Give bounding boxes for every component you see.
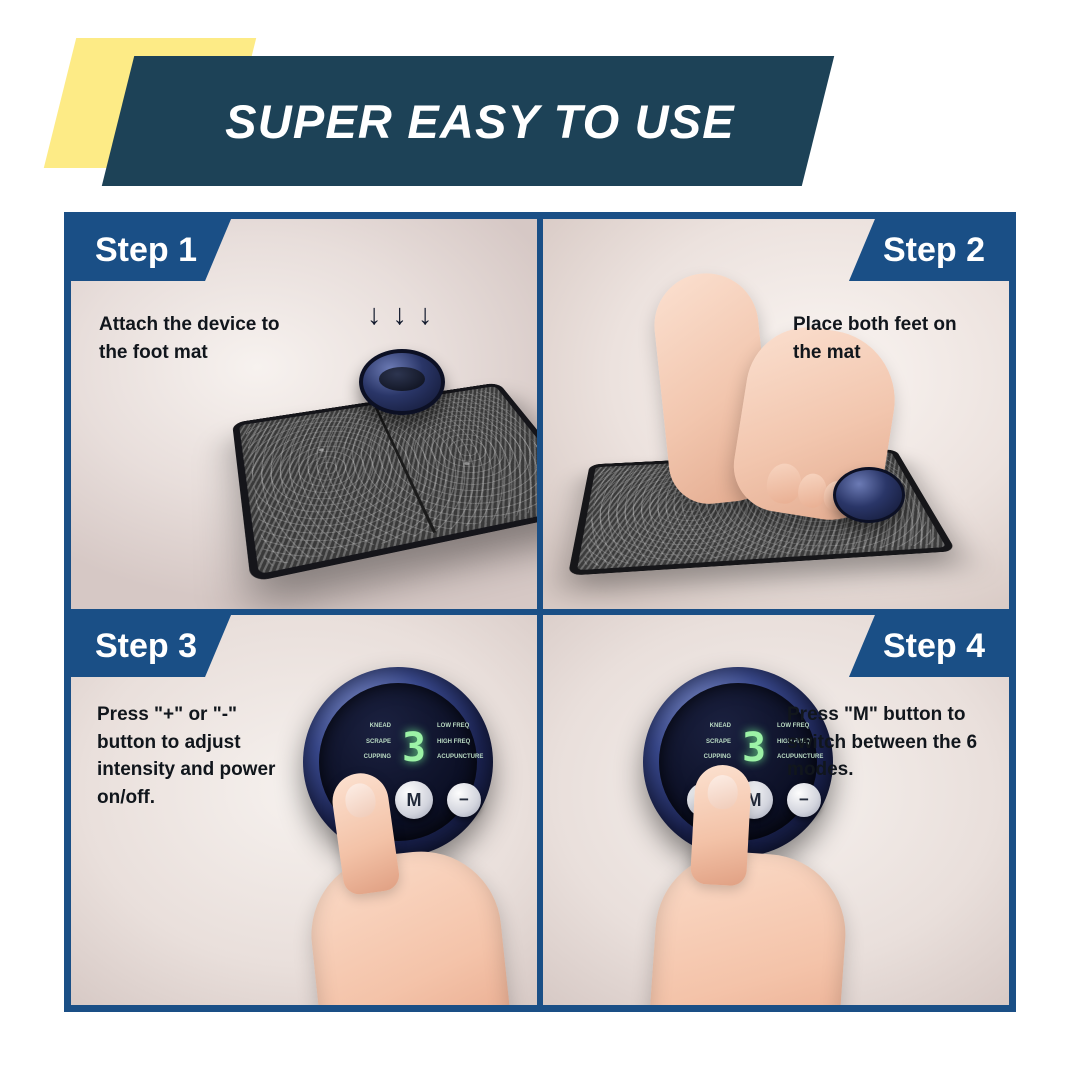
controller-3-screen: KNEAD SCRAPE CUPPING 3 LOW FREQ HIGH FRE… (349, 717, 479, 779)
step-4-caption: Press "M" button to switch between the 6… (787, 701, 987, 784)
mode-button-3[interactable]: M (395, 781, 433, 819)
fingernail (707, 774, 739, 810)
step-3-tab-label: Step 3 (95, 627, 197, 666)
controller-3-screen-labels-left: KNEAD SCRAPE CUPPING (351, 723, 391, 761)
step-1-tab-label: Step 1 (95, 231, 197, 270)
step-1-caption: Attach the device to the foot mat (99, 311, 299, 366)
fingernail (343, 781, 377, 819)
screen-label: KNEAD (351, 723, 391, 730)
step-2-caption: Place both feet on the mat (793, 311, 983, 366)
step-card-3: Step 3 Press "+" or "-" button to adjust… (68, 612, 540, 1008)
screen-label: SCRAPE (351, 739, 391, 746)
screen-label: LOW FREQ (437, 723, 477, 730)
controller-device-puck-2 (833, 467, 905, 523)
step-3-tab: Step 3 (68, 615, 231, 677)
screen-label: CUPPING (351, 754, 391, 761)
down-arrows-icon: ↓↓↓ (367, 301, 433, 330)
controller-device-puck (359, 349, 445, 415)
steps-grid: Step 1 Attach the device to the foot mat… (64, 212, 1016, 1012)
toe (764, 461, 803, 505)
header-banner: SUPER EASY TO USE (0, 38, 1080, 168)
controller-3-screen-labels-right: LOW FREQ HIGH FREQ ACUPUNCTURE (437, 723, 477, 761)
step-4-tab: Step 4 (849, 615, 1012, 677)
step-1-tab: Step 1 (68, 219, 231, 281)
minus-button-3[interactable]: − (447, 783, 481, 817)
controller-4-display-value: 3 (742, 725, 766, 771)
controller-3-display-value: 3 (402, 725, 426, 771)
screen-label: SCRAPE (691, 739, 731, 746)
screen-label: KNEAD (691, 723, 731, 730)
step-card-1: Step 1 Attach the device to the foot mat… (68, 216, 540, 612)
screen-label: CUPPING (691, 754, 731, 761)
minus-button-4[interactable]: − (787, 783, 821, 817)
controller-4-screen-labels-left: KNEAD SCRAPE CUPPING (691, 723, 731, 761)
step-3-caption: Press "+" or "-" button to adjust intens… (97, 701, 277, 811)
step-2-tab: Step 2 (849, 219, 1012, 281)
controller-3: KNEAD SCRAPE CUPPING 3 LOW FREQ HIGH FRE… (303, 667, 493, 857)
step-card-2: Step 2 Place both feet on the mat (540, 216, 1012, 612)
screen-label: HIGH FREQ (437, 739, 477, 746)
step-4-tab-label: Step 4 (883, 627, 985, 666)
pointing-finger-4 (690, 764, 752, 887)
screen-label: ACUPUNCTURE (437, 754, 477, 761)
step-card-4: Step 4 Press "M" button to switch betwee… (540, 612, 1012, 1008)
step-2-tab-label: Step 2 (883, 231, 985, 270)
banner-title: SUPER EASY TO USE (160, 56, 800, 186)
